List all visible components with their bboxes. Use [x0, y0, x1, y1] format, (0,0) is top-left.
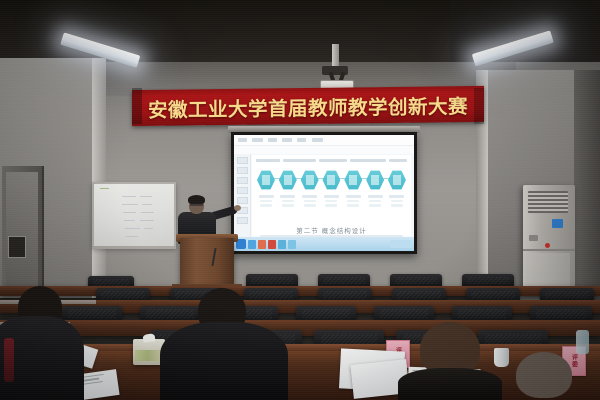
air-conditioner-display-panel — [529, 235, 538, 241]
ppt-menu-item[interactable] — [297, 138, 306, 142]
ppt-slide-thumbnail[interactable] — [237, 217, 248, 224]
presenter-glasses-icon — [190, 203, 203, 206]
attendee-front-far-right-head — [516, 352, 572, 398]
ppt-menu-item[interactable] — [282, 138, 292, 142]
taskbar-app-icon[interactable] — [288, 240, 296, 249]
slide-header-cell — [283, 159, 316, 162]
presenter-hand — [234, 205, 241, 211]
ppt-slide-thumbnail[interactable] — [237, 197, 248, 204]
hexagon-node — [322, 170, 340, 190]
taskbar-app-icon[interactable] — [258, 240, 266, 249]
ppt-menu-bar — [234, 135, 414, 146]
air-conditioner-vent-grille — [528, 191, 568, 213]
water-bottle[interactable] — [576, 330, 589, 354]
hexagon-caption — [388, 195, 406, 221]
whiteboard-writing — [140, 220, 154, 221]
ppt-menu-item[interactable] — [238, 138, 247, 142]
windows-taskbar[interactable] — [234, 237, 414, 251]
whiteboard-writing — [140, 196, 152, 197]
attendee-front-left-bag-strap — [4, 338, 14, 382]
whiteboard-writing — [123, 212, 136, 213]
ppt-slide-thumbnail[interactable] — [237, 167, 248, 174]
hexagon-flow-diagram — [257, 169, 406, 191]
projection-screen: 第二节 概念结构设计 — [234, 135, 414, 251]
hexagon-node — [388, 170, 406, 190]
taskbar-app-icon[interactable] — [278, 240, 286, 249]
taskbar-app-icon[interactable] — [248, 240, 256, 249]
whiteboard-writing — [122, 204, 138, 205]
whiteboard — [92, 182, 176, 248]
whiteboard-writing — [142, 204, 152, 205]
slide-title: 第二节 概念结构设计 — [252, 225, 411, 235]
slide-header-cell — [256, 159, 280, 162]
event-banner-text: 安徽工业大学首届教师教学创新大赛 — [148, 90, 468, 123]
projector-mount-pole — [332, 44, 339, 68]
whiteboard-tray — [92, 246, 176, 249]
floor-air-conditioner — [523, 185, 575, 295]
air-conditioner-power-indicator — [545, 243, 550, 248]
whiteboard-writing — [122, 196, 136, 197]
ppt-slide-thumbnail[interactable] — [237, 177, 248, 184]
attendee-front-center-body — [160, 322, 288, 400]
whiteboard-writing — [125, 228, 140, 229]
banner-fold-left — [132, 88, 142, 124]
tissue-sheet — [143, 333, 156, 343]
air-conditioner-seam — [523, 249, 575, 251]
hexagon-caption — [301, 195, 319, 221]
slide-canvas: 第二节 概念结构设计 — [252, 155, 411, 236]
left-wall-edge — [92, 58, 106, 298]
attendee-front-right-body — [398, 368, 502, 400]
ppt-menu-item[interactable] — [268, 138, 277, 142]
taskbar-app-icon[interactable] — [268, 240, 276, 249]
slide-header-row — [256, 158, 407, 163]
ppt-menu-item[interactable] — [252, 138, 263, 142]
hexagon-node — [279, 170, 297, 190]
name-placard-text: 评委 — [570, 354, 579, 368]
slide-header-cell — [319, 159, 346, 162]
ppt-slide-thumbnail-pane[interactable] — [234, 154, 251, 237]
ppt-ribbon — [234, 146, 414, 154]
projection-screen-frame: 第二节 概念结构设计 — [231, 132, 417, 254]
classroom-scene: 安徽工业大学首届教师教学创新大赛 — [0, 0, 600, 400]
hexagon-node — [257, 170, 275, 190]
ppt-slide-thumbnail[interactable] — [237, 187, 248, 194]
hexagon-node — [301, 170, 319, 190]
ppt-slide-thumbnail[interactable] — [237, 157, 248, 164]
hexagon-caption — [279, 195, 297, 221]
hexagon-caption — [366, 195, 384, 221]
hexagon-node — [366, 170, 384, 190]
hexagon-caption-row — [257, 195, 406, 221]
slide-header-cell — [389, 159, 407, 162]
hexagon-caption — [344, 195, 362, 221]
whiteboard-writing — [126, 236, 138, 237]
hexagon-caption — [322, 195, 340, 221]
event-banner: 安徽工业大学首届教师教学创新大赛 — [132, 86, 484, 126]
paper-cup[interactable] — [494, 348, 509, 367]
hexagon-caption — [257, 195, 275, 221]
ppt-menu-item[interactable] — [312, 138, 323, 142]
door-window-panel — [8, 236, 26, 258]
air-conditioner-energy-label — [552, 219, 563, 228]
banner-fold-right — [474, 88, 484, 124]
whiteboard-writing — [144, 228, 153, 229]
whiteboard-writing — [141, 212, 154, 213]
tissue-box-pattern — [135, 350, 163, 361]
whiteboard-marker-icon — [100, 188, 109, 189]
slide-header-cell — [350, 159, 386, 162]
right-wall-shadow — [574, 70, 600, 302]
hexagon-node — [344, 170, 362, 190]
wooden-podium — [180, 238, 234, 290]
side-door[interactable] — [6, 172, 38, 290]
system-tray[interactable] — [390, 240, 412, 248]
whiteboard-writing — [124, 220, 135, 221]
